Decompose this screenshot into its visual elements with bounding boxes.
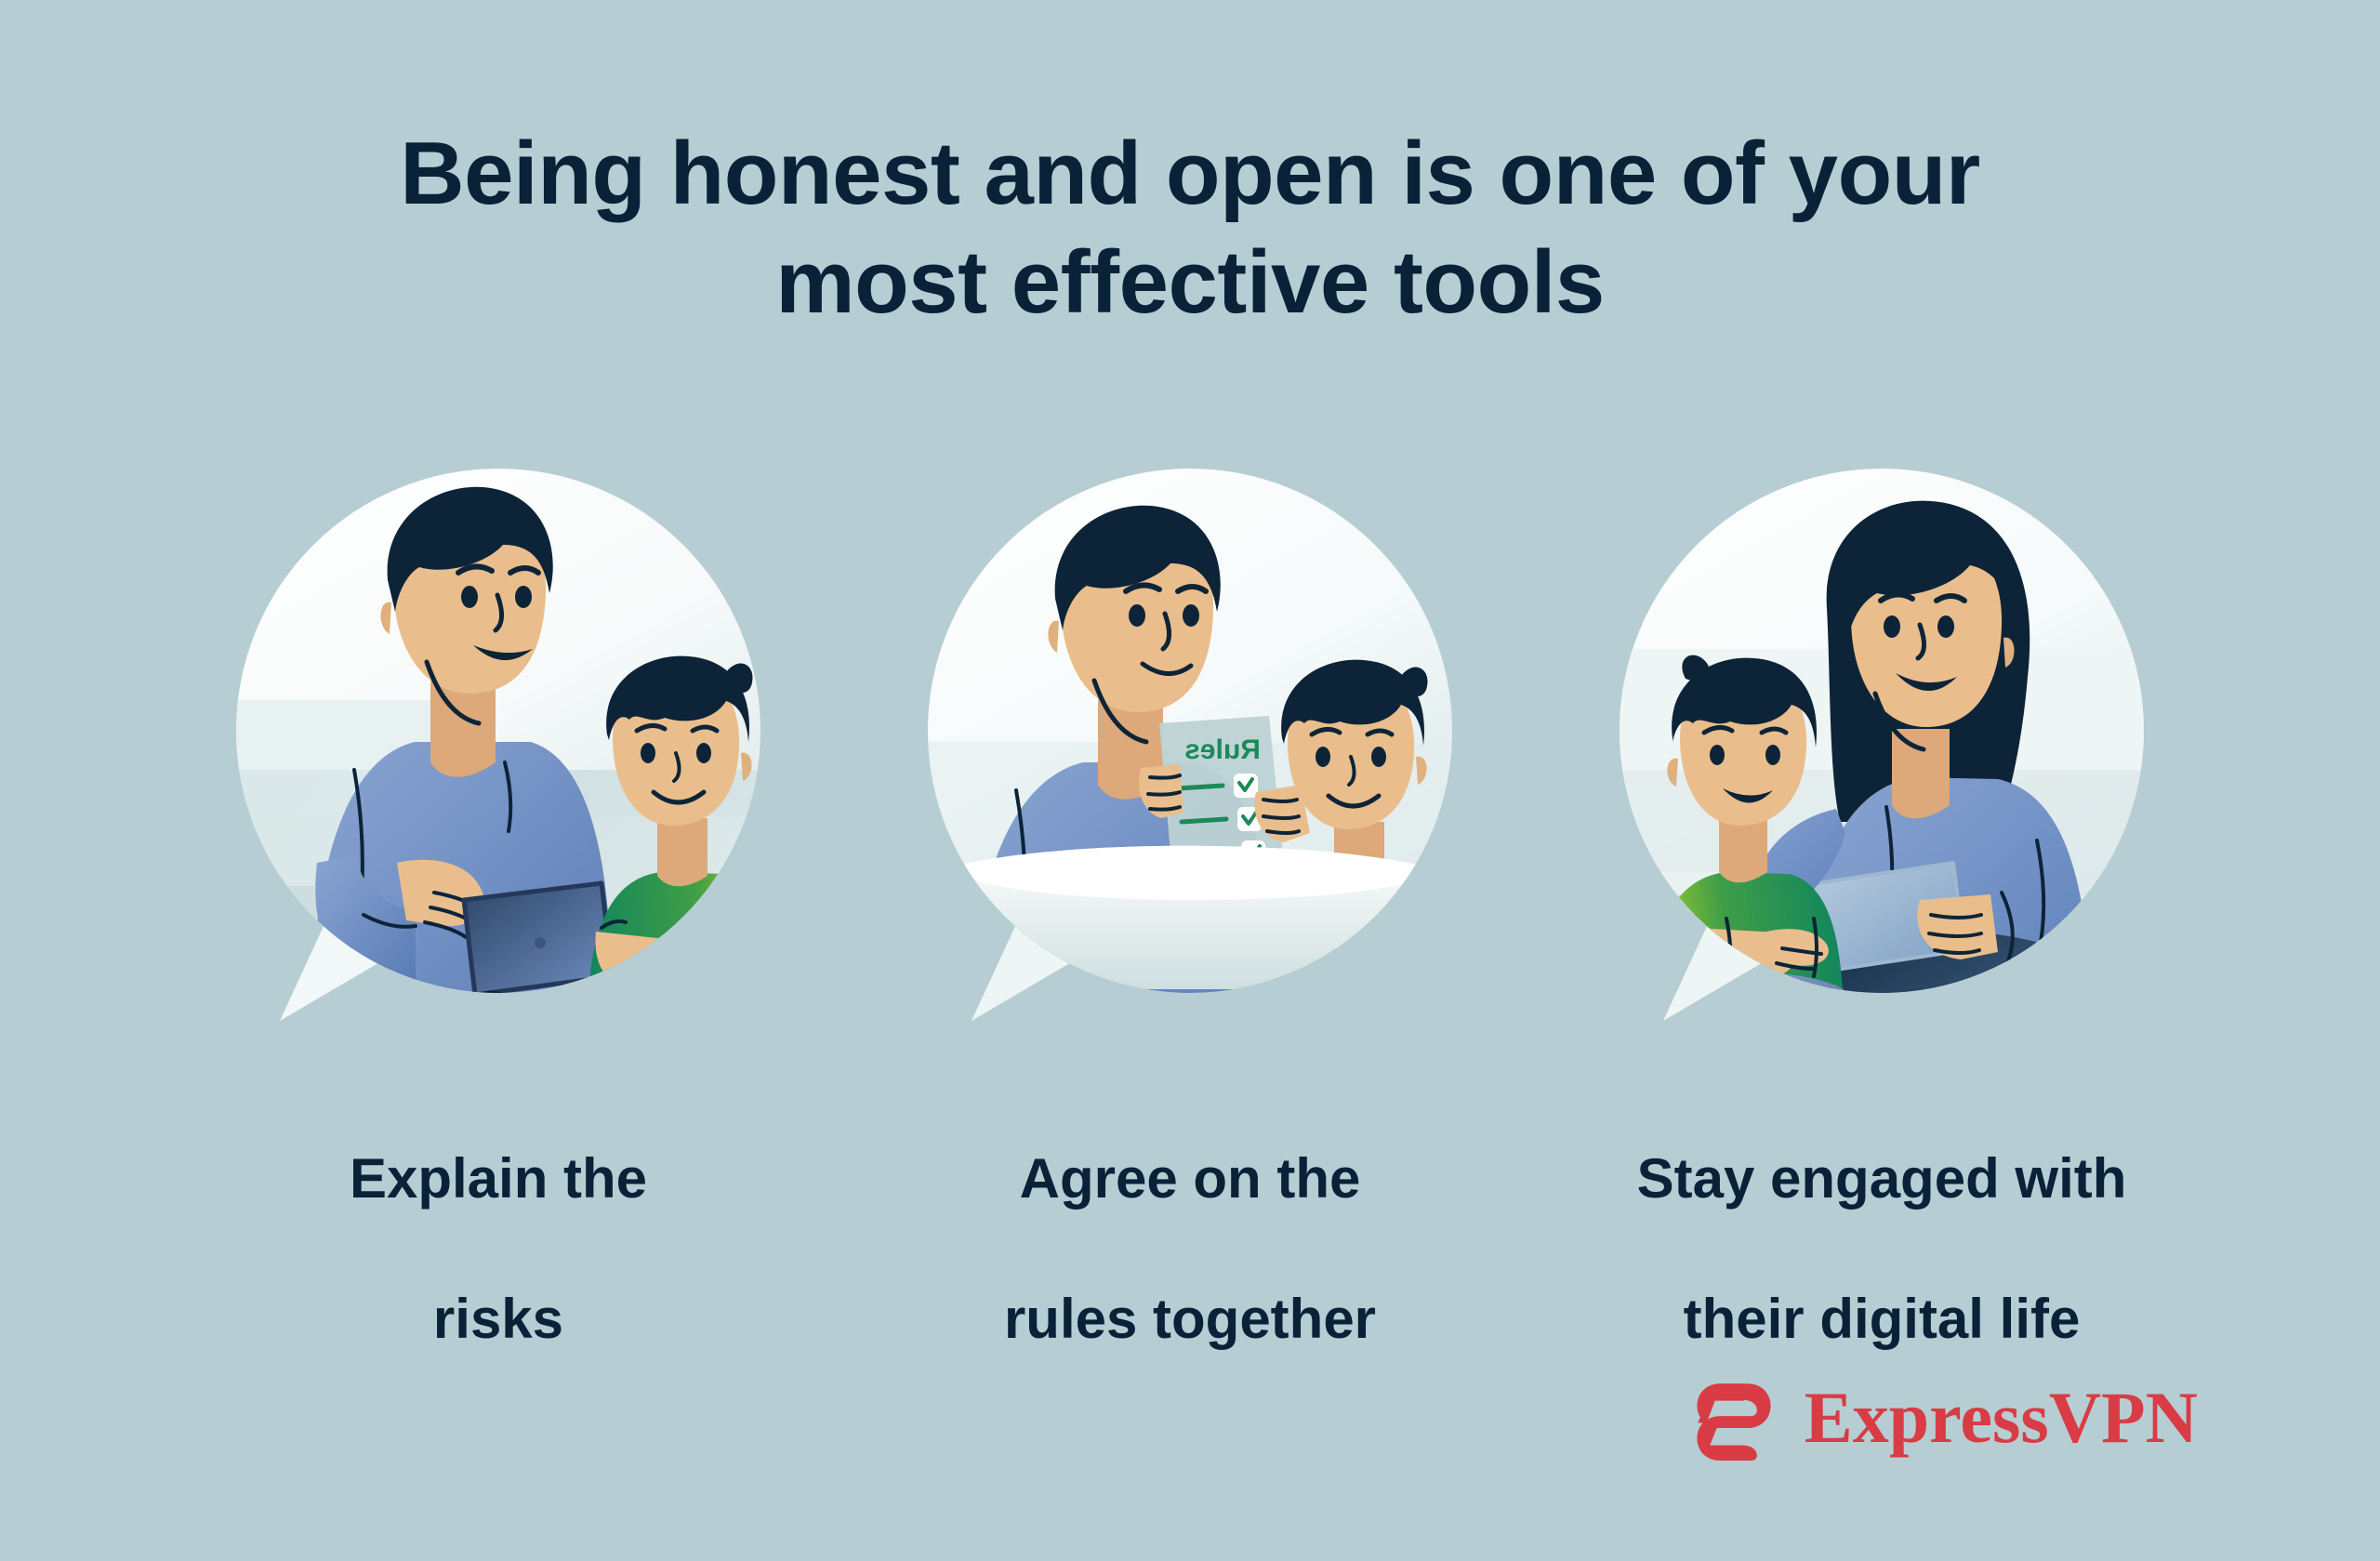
- panel-caption-line-2: risks: [350, 1284, 647, 1355]
- panel-stay-engaged: Stay engaged with their digital life: [1584, 463, 2179, 1424]
- panel-explain-risks: Explain the risks: [201, 463, 796, 1424]
- expressvpn-logo[interactable]: ExpressVPN: [1691, 1375, 2198, 1461]
- illustration-adult-and-child-with-tablet: [224, 463, 773, 1032]
- panel-caption-line-1: Stay engaged with: [1637, 1144, 2127, 1214]
- page-title-line-1: Being honest and open is one of your: [279, 119, 2101, 228]
- expressvpn-wordmark: ExpressVPN: [1805, 1382, 2198, 1454]
- panel-row: Explain the risks: [0, 463, 2380, 1424]
- panel-caption-line-2: their digital life: [1637, 1284, 2127, 1355]
- panel-caption: Explain the risks: [350, 1073, 647, 1424]
- svg-text:Rules: Rules: [1184, 734, 1261, 765]
- illustration-woman-and-child-with-tablet: [1607, 463, 2156, 1032]
- panel-caption-line-2: rules together: [1004, 1284, 1376, 1355]
- panel-caption-line-1: Explain the: [350, 1144, 647, 1214]
- expressvpn-e-mark: [1691, 1375, 1777, 1461]
- page-title: Being honest and open is one of your mos…: [0, 119, 2380, 337]
- illustration-adult-and-child-with-rules-checklist: Rules: [916, 463, 1464, 1032]
- infographic-canvas: Being honest and open is one of your mos…: [0, 0, 2380, 1561]
- panel-caption-line-1: Agree on the: [1004, 1144, 1376, 1214]
- panel-agree-rules: Rules: [892, 463, 1487, 1424]
- panel-caption: Agree on the rules together: [1004, 1073, 1376, 1424]
- panel-caption: Stay engaged with their digital life: [1637, 1073, 2127, 1424]
- page-title-line-2: most effective tools: [279, 228, 2101, 337]
